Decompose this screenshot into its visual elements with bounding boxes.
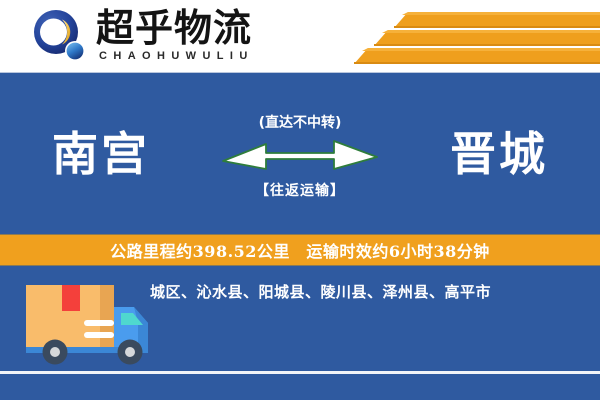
orange-speed-stripes-icon xyxy=(300,0,600,72)
route-row: 南宫 (直达不中转) 【往返运输】 晋城 xyxy=(0,110,600,220)
poster-header: 超乎物流 CHAOHUWULIU xyxy=(0,0,600,72)
route-arrow-group: (直达不中转) 【往返运输】 xyxy=(215,110,385,220)
road-line xyxy=(0,371,600,374)
distance-duration-text: 公路里程约398.52公里 运输时效约6小时38分钟 xyxy=(110,238,490,262)
logistics-route-poster: 超乎物流 CHAOHUWULIU 南宫 (直达不中转) xyxy=(0,0,600,400)
delivery-truck-icon xyxy=(22,281,162,367)
round-trip-note: 【往返运输】 xyxy=(215,180,385,200)
header-divider xyxy=(0,72,600,73)
distance-duration-band: 公路里程约398.52公里 运输时效约6小时38分钟 xyxy=(0,234,600,266)
brand-name-cn: 超乎物流 xyxy=(96,7,252,49)
double-headed-arrow-icon xyxy=(220,136,380,174)
circle-crescent-logo-icon xyxy=(30,9,92,65)
service-areas-text: 城区、沁水县、阳城县、陵川县、泽州县、高平市 xyxy=(150,281,590,302)
origin-city: 南宫 xyxy=(52,126,150,182)
direct-route-note: (直达不中转) xyxy=(215,112,385,132)
destination-city: 晋城 xyxy=(450,126,548,182)
brand-name-en: CHAOHUWULIU xyxy=(99,50,254,62)
